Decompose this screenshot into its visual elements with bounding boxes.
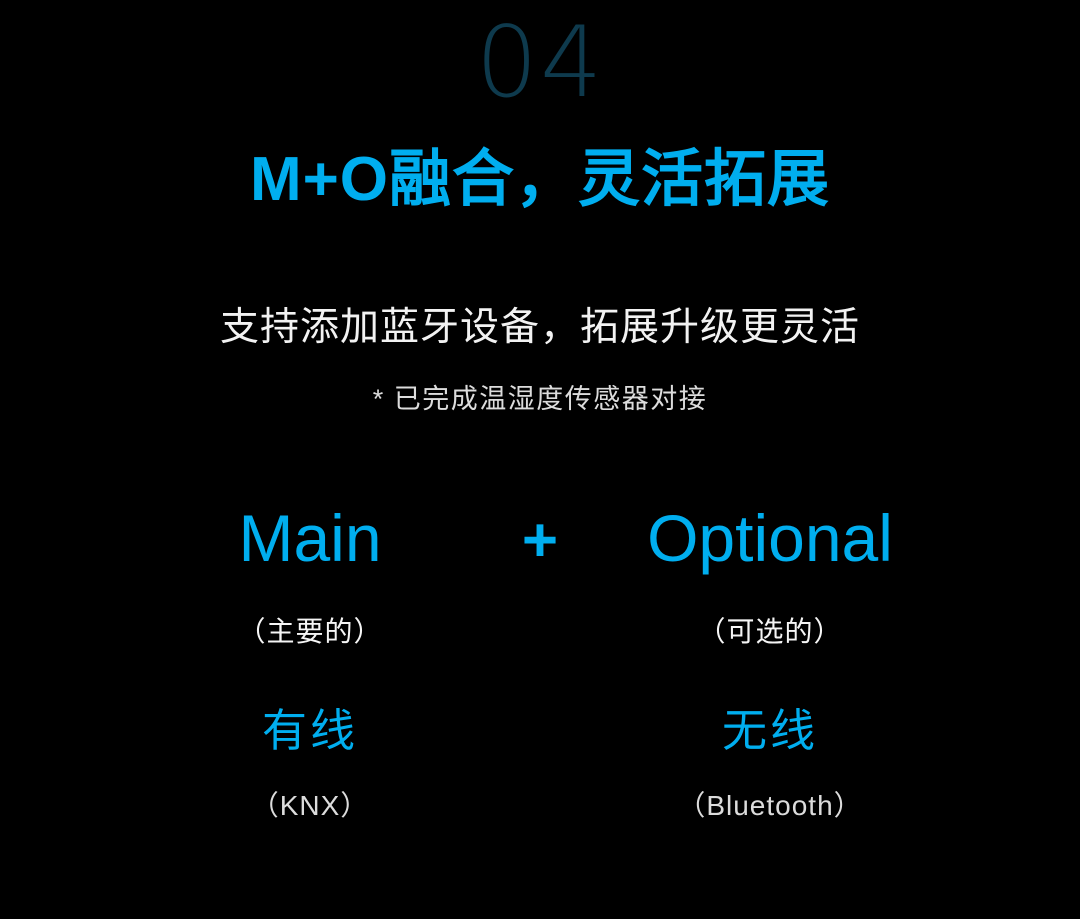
column-heading-main: Main	[140, 505, 480, 571]
hero-subtitle: 支持添加蓝牙设备，拓展升级更灵活	[0, 304, 1080, 353]
column-heading-optional: Optional	[600, 505, 940, 571]
promo-slide: 04 M+O融合，灵活拓展 支持添加蓝牙设备，拓展升级更灵活 * 已完成温湿度传…	[0, 0, 1080, 919]
plus-operator-cell: +	[480, 510, 600, 572]
column-mode-wired: 有线	[140, 708, 480, 753]
comparison-protocol-row: （KNX） （Bluetooth）	[0, 792, 1080, 820]
comparison-mode-row: 有线 无线	[0, 708, 1080, 753]
hero-footnote: * 已完成温湿度传感器对接	[0, 383, 1080, 417]
section-number: 04	[0, 14, 1080, 112]
plus-icon: +	[522, 510, 558, 572]
comparison-cn-label-row: （主要的） （可选的）	[0, 618, 1080, 646]
column-protocol-bluetooth: （Bluetooth）	[600, 792, 940, 820]
comparison-block: Main + Optional （主要的） （可选的） 有线 无线 （KNX） …	[0, 505, 1080, 865]
column-protocol-knx: （KNX）	[140, 792, 480, 820]
column-mode-wireless: 无线	[600, 708, 940, 753]
page-title: M+O融合，灵活拓展	[0, 143, 1080, 216]
comparison-heading-row: Main + Optional	[0, 505, 1080, 572]
column-cn-label-optional: （可选的）	[600, 618, 940, 646]
column-cn-label-main: （主要的）	[140, 618, 480, 646]
